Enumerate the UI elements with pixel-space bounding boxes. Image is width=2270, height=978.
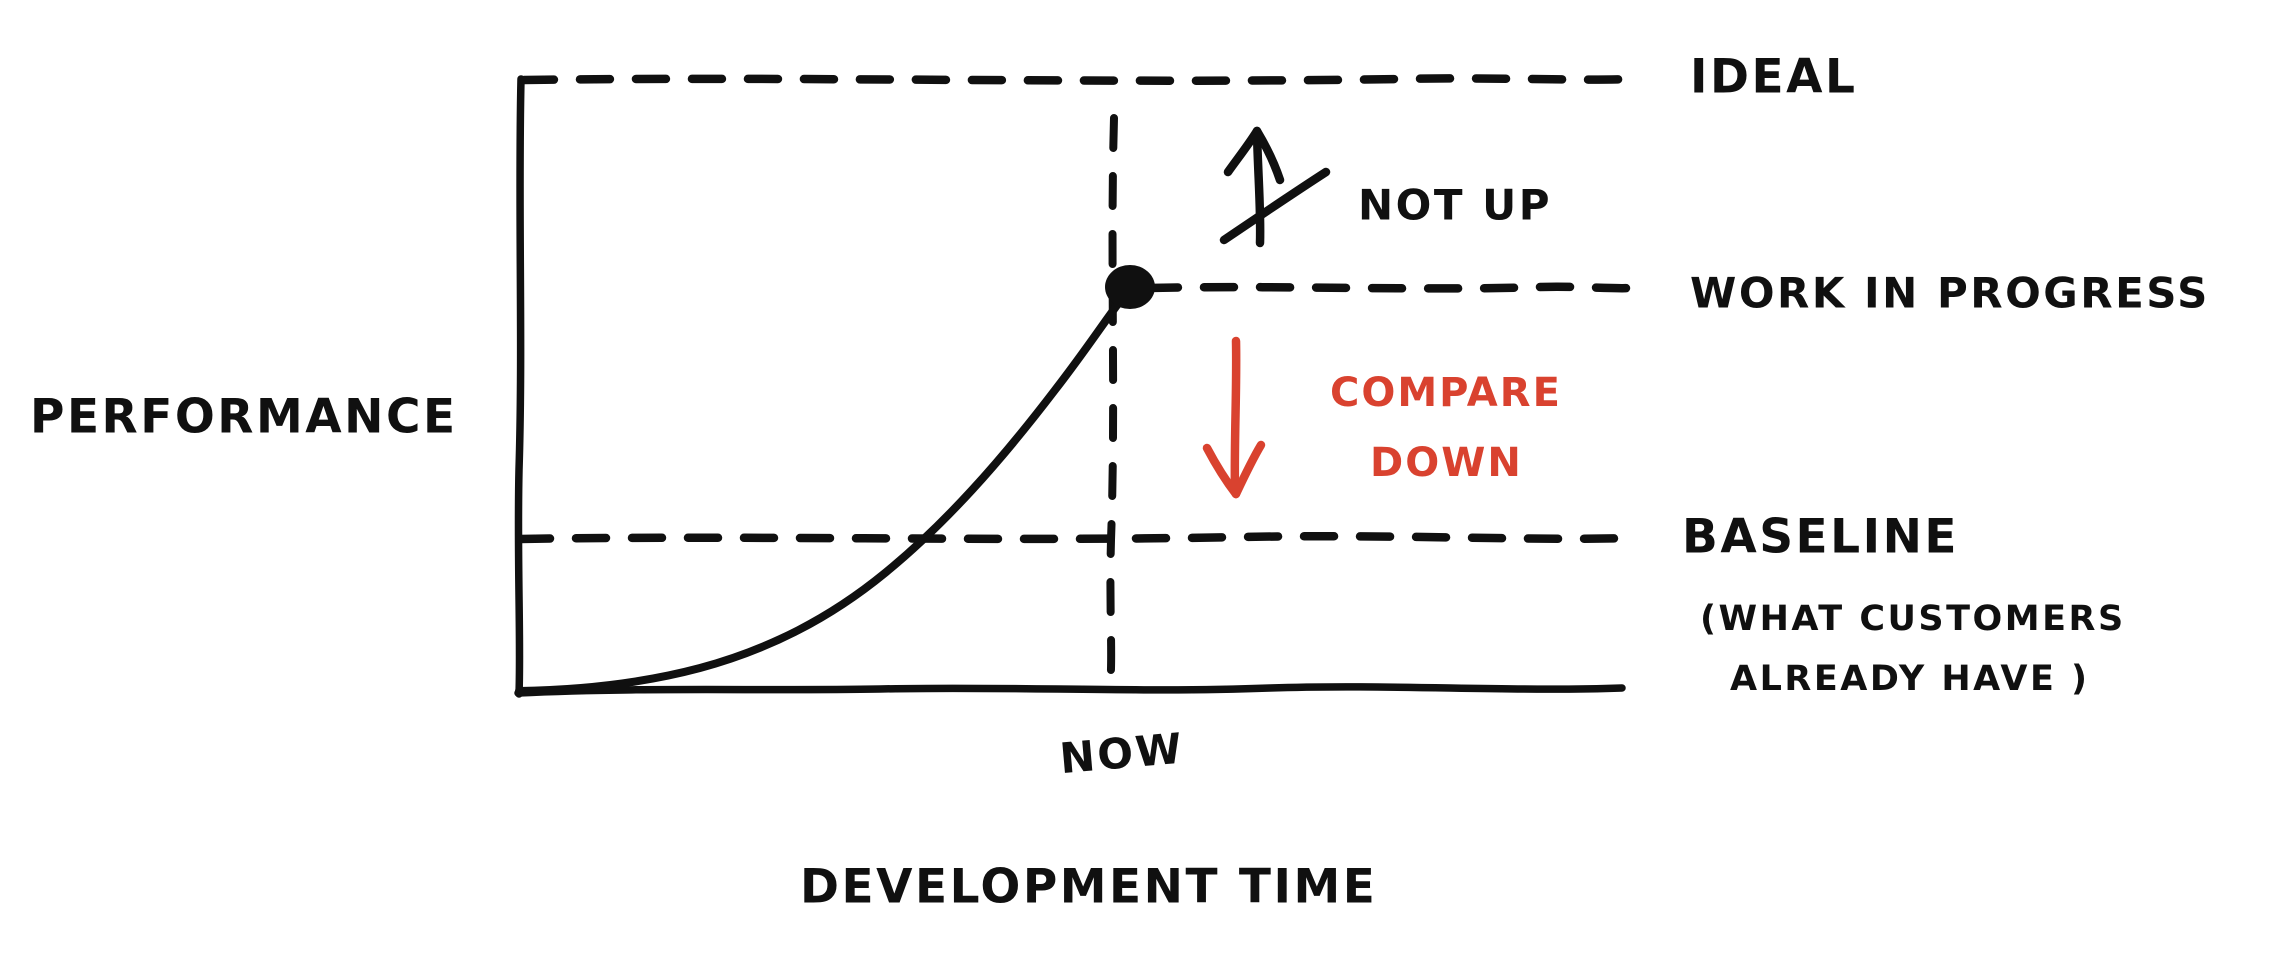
work-in-progress-label: WORK IN PROGRESS [1690, 269, 2210, 318]
compare-down-label-line2: DOWN [1370, 440, 1523, 486]
x-axis-line [518, 687, 1622, 693]
x-axis-label: DEVELOPMENT TIME [800, 860, 1377, 915]
work-in-progress-dashed-line [1148, 287, 1632, 289]
baseline-sublabel-line2: ALREADY HAVE ) [1730, 659, 2090, 699]
y-axis-label: PERFORMANCE [30, 390, 458, 445]
baseline-label: BASELINE [1682, 510, 1959, 565]
y-axis-line [518, 79, 521, 694]
baseline-dashed-line [520, 536, 1632, 539]
baseline-sublabel-line1: (WHAT CUSTOMERS [1700, 599, 2126, 639]
ideal-dashed-line [524, 78, 1632, 80]
compare-down-label-line1: COMPARE [1330, 370, 1562, 416]
now-tick-label: NOW [1058, 723, 1186, 783]
not-up-arrow-icon [1224, 131, 1326, 243]
sketch-diagram: PERFORMANCE DEVELOPMENT TIME NOW IDEAL W… [0, 0, 2270, 978]
ideal-label: IDEAL [1690, 50, 1857, 105]
compare-down-arrow-icon [1207, 341, 1261, 494]
now-vertical-dashed-line [1110, 118, 1114, 686]
current-state-dot [1105, 265, 1155, 309]
chart-canvas: PERFORMANCE DEVELOPMENT TIME NOW IDEAL W… [0, 0, 2270, 978]
performance-curve [519, 291, 1128, 691]
not-up-label: NOT UP [1358, 181, 1552, 230]
